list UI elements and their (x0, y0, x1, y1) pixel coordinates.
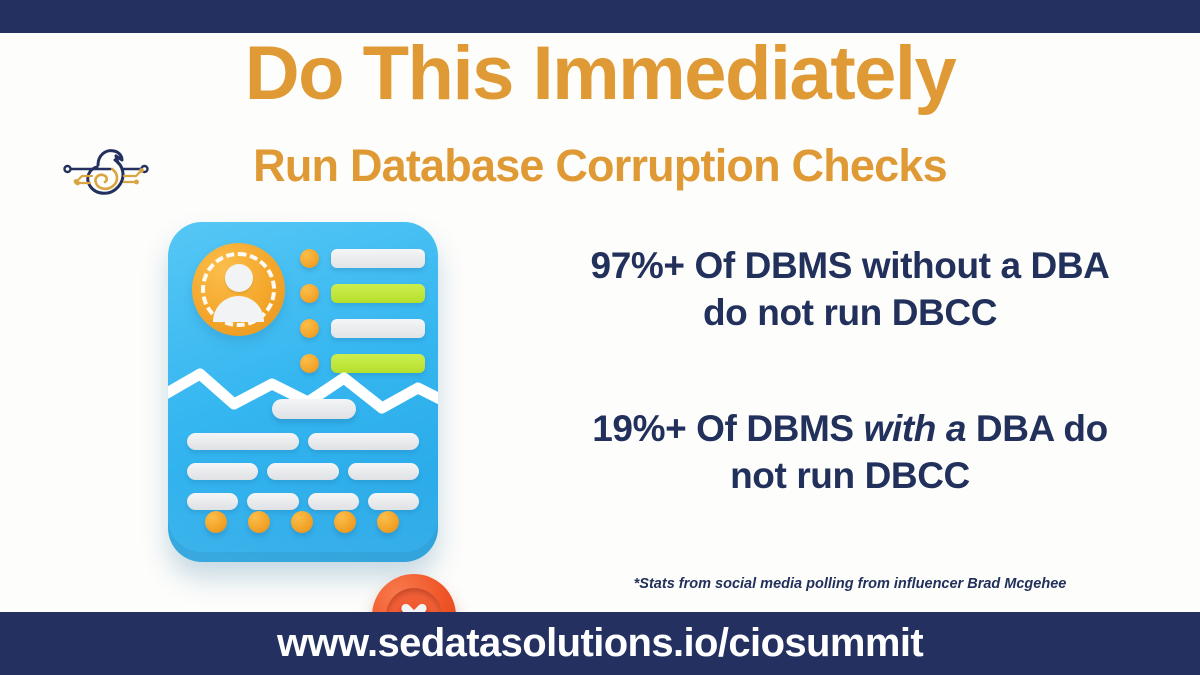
stat-2-emphasis: with a (864, 408, 966, 449)
bullet-dot-icon (300, 284, 319, 303)
pagination-dots (205, 511, 405, 533)
pagination-dot-icon (334, 511, 356, 533)
pagination-dot-icon (205, 511, 227, 533)
page-subtitle: Run Database Corruption Checks (0, 143, 1200, 188)
stat-1-line-2: do not run DBCC (703, 292, 997, 333)
footer-bar: www.sedatasolutions.io/ciosummit (0, 612, 1200, 675)
stat-item-2: 19%+ Of DBMS with a DBA do not run DBCC (520, 405, 1180, 500)
footer-url-link[interactable]: www.sedatasolutions.io/ciosummit (277, 621, 923, 666)
record-rows (187, 433, 419, 523)
page-title: Do This Immediately (0, 36, 1200, 112)
pagination-dot-icon (248, 511, 270, 533)
stat-2-lead: 19%+ Of DBMS (592, 408, 863, 449)
row-pill (187, 463, 258, 480)
database-record-error-illustration (160, 218, 470, 578)
stats-block: 97%+ Of DBMS without a DBA do not run DB… (520, 242, 1180, 499)
bullet-dot-icon (300, 319, 319, 338)
chart-overlay-pill (272, 399, 356, 419)
field-bar (331, 319, 425, 338)
bullet-dot-icon (300, 249, 319, 268)
row-pill (308, 433, 420, 450)
stat-item-1: 97%+ Of DBMS without a DBA do not run DB… (520, 242, 1180, 337)
stat-2-tail: not run DBCC (730, 455, 970, 496)
source-footnote: *Stats from social media polling from in… (520, 576, 1180, 592)
record-field-list (300, 248, 425, 388)
field-bar (331, 249, 425, 268)
row-pill (247, 493, 298, 510)
record-row (187, 493, 419, 510)
stat-2-mid: DBA do (966, 408, 1108, 449)
top-accent-bar (0, 0, 1200, 33)
pagination-dot-icon (291, 511, 313, 533)
user-avatar-icon (192, 243, 285, 336)
record-row (187, 463, 419, 480)
stat-1-line-1: 97%+ Of DBMS without a DBA (591, 245, 1110, 286)
chart-zigzag-line (168, 368, 438, 428)
list-item (300, 283, 425, 303)
row-pill (187, 493, 238, 510)
row-pill (308, 493, 359, 510)
slide-canvas: Do This Immediately Run Database Corrupt… (0, 0, 1200, 675)
record-row (187, 433, 419, 450)
list-item (300, 318, 425, 338)
row-pill (348, 463, 419, 480)
pagination-dot-icon (377, 511, 399, 533)
row-pill (267, 463, 338, 480)
row-pill (187, 433, 299, 450)
row-pill (368, 493, 419, 510)
list-item (300, 248, 425, 268)
avatar-head (225, 264, 253, 292)
field-bar (331, 284, 425, 303)
